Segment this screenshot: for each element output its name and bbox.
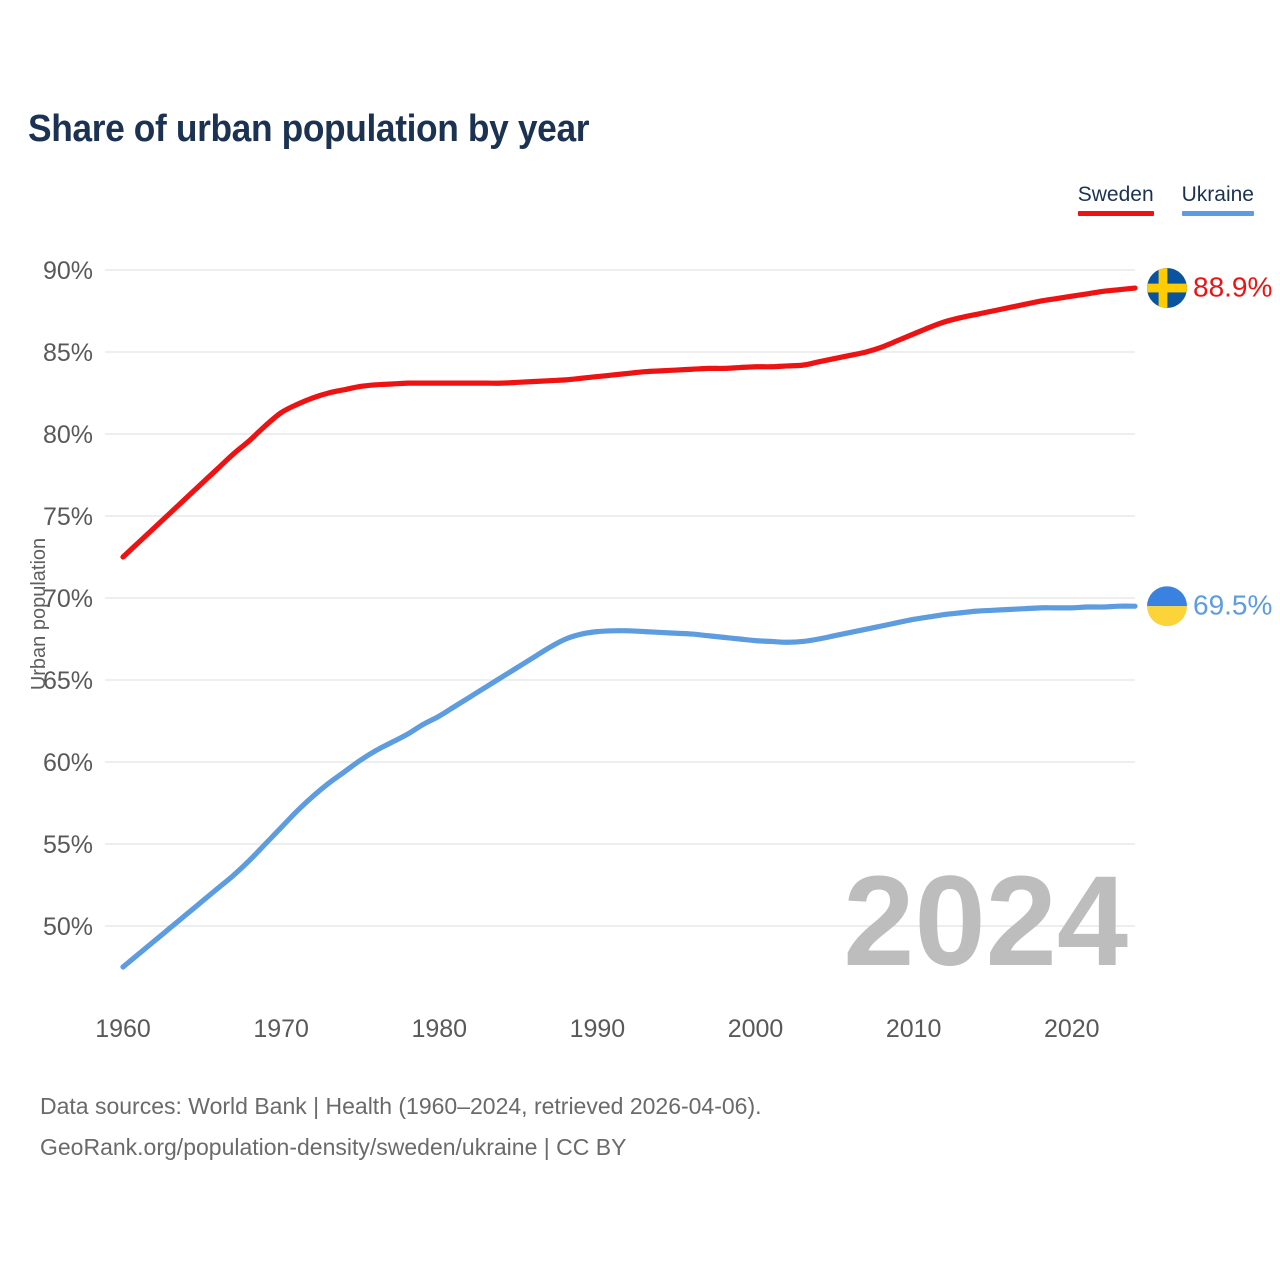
y-axis-tick-labels: 50%55%60%65%70%75%80%85%90% bbox=[43, 257, 93, 941]
y-tick-label: 80% bbox=[43, 421, 93, 449]
footer-credits: Data sources: World Bank | Health (1960–… bbox=[40, 1086, 762, 1168]
x-tick-label: 2000 bbox=[728, 1015, 784, 1043]
footer-line-url[interactable]: GeoRank.org/population-density/sweden/uk… bbox=[40, 1127, 762, 1168]
y-tick-label: 70% bbox=[43, 585, 93, 613]
y-tick-label: 50% bbox=[43, 913, 93, 941]
y-tick-label: 75% bbox=[43, 503, 93, 531]
endpoint-value-sweden: 88.9% bbox=[1193, 271, 1272, 302]
x-tick-label: 1970 bbox=[253, 1015, 309, 1043]
x-tick-label: 1990 bbox=[570, 1015, 626, 1043]
x-tick-label: 2020 bbox=[1044, 1015, 1100, 1043]
y-tick-label: 90% bbox=[43, 257, 93, 285]
x-tick-label: 2010 bbox=[886, 1015, 942, 1043]
y-axis-title: Urban population bbox=[28, 538, 50, 690]
x-tick-label: 1960 bbox=[95, 1015, 151, 1043]
x-tick-label: 1980 bbox=[411, 1015, 467, 1043]
y-tick-label: 85% bbox=[43, 339, 93, 367]
y-tick-label: 65% bbox=[43, 667, 93, 695]
sweden-flag-icon bbox=[1147, 268, 1187, 308]
gridlines bbox=[105, 270, 1135, 926]
endpoint-markers: 88.9%69.5% bbox=[1147, 268, 1272, 626]
chart-page: Share of urban population by year Sweden… bbox=[0, 0, 1280, 1280]
y-tick-label: 60% bbox=[43, 749, 93, 777]
year-watermark: 2024 bbox=[843, 850, 1128, 993]
footer-line-sources: Data sources: World Bank | Health (1960–… bbox=[40, 1086, 762, 1127]
endpoint-value-ukraine: 69.5% bbox=[1193, 590, 1272, 621]
ukraine-flag-icon bbox=[1147, 586, 1187, 626]
y-tick-label: 55% bbox=[43, 831, 93, 859]
x-axis-tick-labels: 1960197019801990200020102020 bbox=[95, 1015, 1099, 1043]
